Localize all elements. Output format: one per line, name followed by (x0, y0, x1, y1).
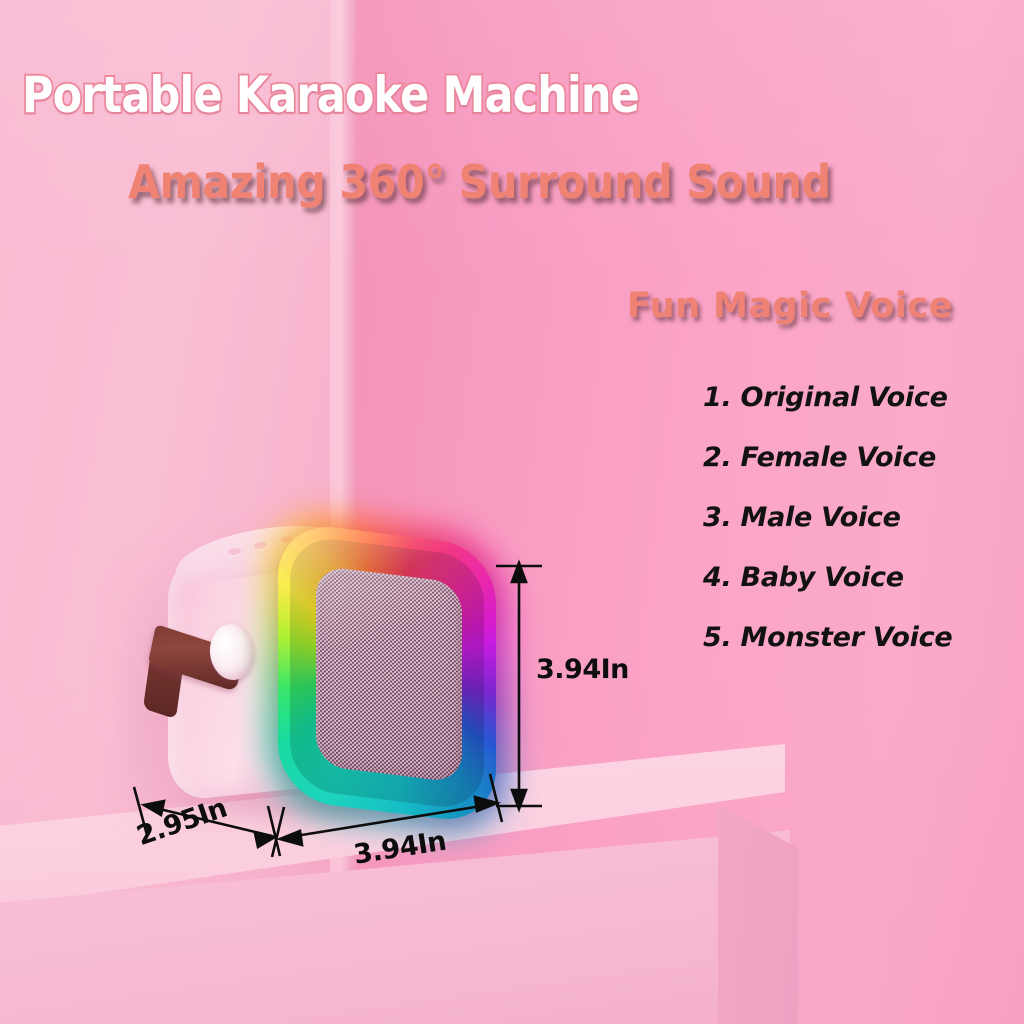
list-item: 5. Monster Voice (703, 622, 952, 653)
speaker-mesh-grille (316, 565, 462, 783)
product-marketing-image: Portable Karaoke Machine Amazing 360° Su… (0, 0, 1024, 1024)
magic-voice-heading: Fun Magic Voice (627, 286, 953, 326)
list-item: 1. Original Voice (703, 382, 952, 413)
grille-sheen (316, 565, 462, 783)
list-item: 3. Male Voice (703, 502, 952, 533)
top-button-icon (254, 541, 267, 550)
top-button-icon (228, 547, 241, 556)
dimension-label-height: 3.94In (536, 654, 629, 685)
speaker-front-face (278, 521, 496, 826)
page-title: Portable Karaoke Machine (22, 66, 639, 124)
list-item: 4. Baby Voice (703, 562, 952, 593)
magic-voice-list: 1. Original Voice 2. Female Voice 3. Mal… (703, 382, 952, 682)
headline-subtitle: Amazing 360° Surround Sound (128, 155, 831, 209)
list-item: 2. Female Voice (703, 442, 952, 473)
karaoke-speaker-product (150, 520, 510, 840)
